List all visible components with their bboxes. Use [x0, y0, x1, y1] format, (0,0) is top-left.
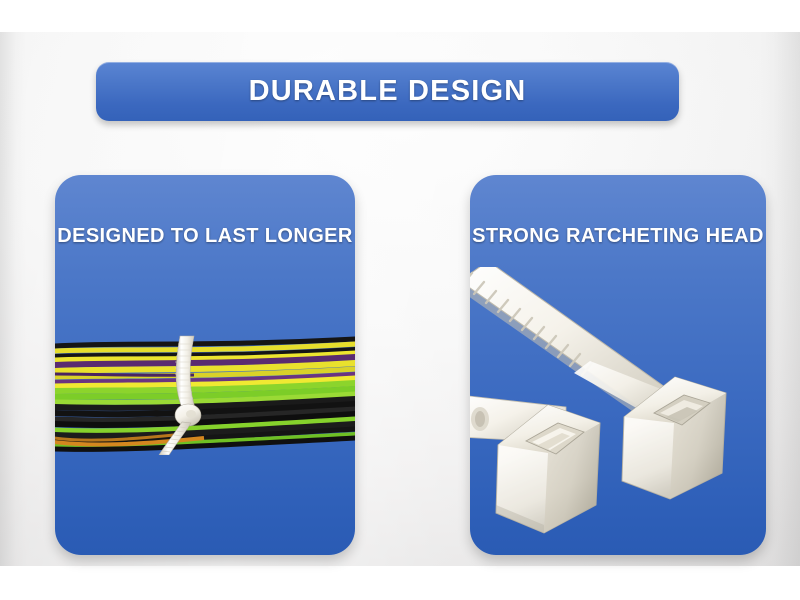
feature-card-title-left: DESIGNED TO LAST LONGER [55, 225, 355, 248]
product-feature-banner: DURABLE DESIGN DESIGNED TO LAST LONGER [0, 0, 800, 600]
feature-card-title-right: STRONG RATCHETING HEAD [470, 225, 766, 248]
feature-card-designed-to-last-longer: DESIGNED TO LAST LONGER [55, 175, 355, 555]
cable-bundle-image [55, 330, 355, 455]
feature-card-strong-ratcheting-head: STRONG RATCHETING HEAD [470, 175, 766, 555]
header-banner: DURABLE DESIGN [96, 62, 679, 121]
cable-tie-heads-image [470, 267, 766, 555]
banner-title: DURABLE DESIGN [249, 75, 527, 108]
